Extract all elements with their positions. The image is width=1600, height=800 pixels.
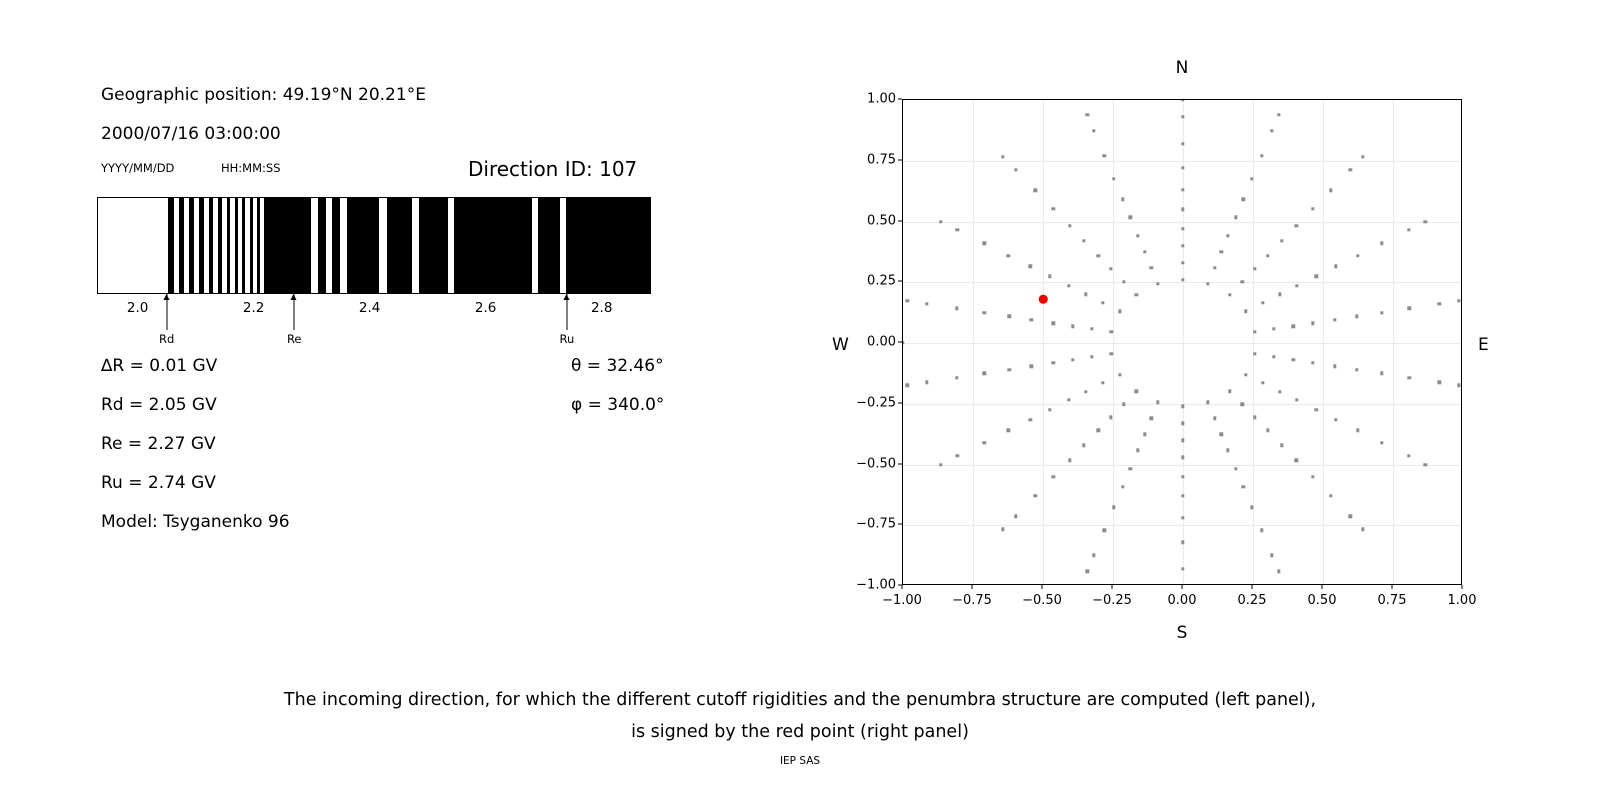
datetime-label: 2000/07/16 03:00:00 xyxy=(101,124,281,144)
direction-point xyxy=(1150,266,1153,269)
gridline-horizontal xyxy=(903,465,1461,466)
gridline-vertical xyxy=(1043,100,1044,584)
direction-point xyxy=(982,441,985,444)
scatter-y-tick-mark xyxy=(898,463,902,464)
direction-point xyxy=(1008,368,1011,371)
direction-point xyxy=(1329,494,1332,497)
direction-point xyxy=(1280,239,1283,242)
direction-point xyxy=(1014,168,1017,171)
scatter-y-tick-label: 0.00 xyxy=(867,335,896,350)
gridline-vertical xyxy=(1393,100,1394,584)
penumbra-forbidden-bar xyxy=(538,198,560,293)
direction-grid-panel: N S W E −1.00−0.75−0.50−0.250.000.250.50… xyxy=(800,0,1600,660)
penumbra-marker-ru xyxy=(566,294,567,330)
direction-point xyxy=(1110,352,1113,355)
scatter-x-tick-label: −0.25 xyxy=(1092,593,1132,608)
penumbra-marker-label-rd: Rd xyxy=(159,332,174,346)
penumbra-forbidden-bar xyxy=(419,198,447,293)
direction-point xyxy=(1295,224,1298,227)
direction-point xyxy=(1361,155,1364,158)
penumbra-marker-rd xyxy=(166,294,167,330)
direction-point xyxy=(982,242,985,245)
scatter-x-tick-mark xyxy=(1462,585,1463,589)
scatter-x-tick-label: −0.75 xyxy=(952,593,992,608)
gridline-horizontal xyxy=(903,222,1461,223)
gridline-horizontal xyxy=(903,161,1461,162)
direction-point xyxy=(1228,293,1231,296)
direction-point xyxy=(1260,154,1263,157)
direction-point xyxy=(1181,261,1184,264)
direction-point xyxy=(1135,293,1138,296)
direction-point xyxy=(1034,189,1037,192)
penumbra-marker-label-ru: Ru xyxy=(559,332,574,346)
direction-point xyxy=(1270,554,1273,557)
penumbra-forbidden-bar xyxy=(199,198,204,293)
direction-point xyxy=(1181,227,1184,230)
direction-point xyxy=(1260,529,1263,532)
figure-caption: The incoming direction, for which the di… xyxy=(0,684,1600,748)
penumbra-marker-re xyxy=(294,294,295,330)
direction-point xyxy=(1181,208,1184,211)
direction-point xyxy=(1266,254,1269,257)
direction-point xyxy=(1103,529,1106,532)
penumbra-tick-label: 2.4 xyxy=(359,300,380,316)
direction-point xyxy=(1092,129,1095,132)
direction-point xyxy=(1181,404,1184,407)
direction-point xyxy=(1135,390,1138,393)
direction-point xyxy=(1277,570,1280,573)
scatter-y-tick-label: 0.25 xyxy=(867,274,896,289)
direction-point xyxy=(925,381,928,384)
scatter-x-tick-mark xyxy=(902,585,903,589)
direction-point xyxy=(939,463,942,466)
scatter-x-tick-label: 0.00 xyxy=(1168,593,1197,608)
scatter-y-tick-label: 0.75 xyxy=(867,152,896,167)
direction-point xyxy=(1136,449,1139,452)
scatter-y-tick-mark xyxy=(898,342,902,343)
penumbra-tick-label: 2.6 xyxy=(475,300,496,316)
direction-point xyxy=(1206,401,1209,404)
direction-point xyxy=(1361,527,1364,530)
scatter-y-tick-label: 0.50 xyxy=(867,213,896,228)
direction-point xyxy=(1292,324,1295,327)
direction-point xyxy=(956,228,959,231)
penumbra-forbidden-bar xyxy=(227,198,230,293)
direction-point xyxy=(1034,494,1037,497)
time-format-hint: HH:MM:SS xyxy=(221,161,281,175)
scatter-y-tick-mark xyxy=(898,281,902,282)
penumbra-forbidden-bar xyxy=(566,198,651,293)
direction-point xyxy=(1457,299,1460,302)
direction-point xyxy=(1082,239,1085,242)
direction-point xyxy=(1226,234,1229,237)
direction-point xyxy=(1112,177,1115,180)
direction-point xyxy=(1242,485,1245,488)
scatter-x-tick-label: 0.50 xyxy=(1308,593,1337,608)
caption-line-1: The incoming direction, for which the di… xyxy=(0,684,1600,716)
scatter-x-tick-mark xyxy=(1112,585,1113,589)
penumbra-panel: Geographic position: 49.19°N 20.21°E 200… xyxy=(0,0,760,660)
penumbra-tick-label: 2.2 xyxy=(243,300,264,316)
direction-point xyxy=(1380,372,1383,375)
direction-point xyxy=(1181,494,1184,497)
direction-point xyxy=(1118,373,1121,376)
penumbra-forbidden-bar xyxy=(242,198,245,293)
direction-point xyxy=(1244,310,1247,313)
param-re: Re = 2.27 GV xyxy=(101,434,216,454)
direction-point xyxy=(1272,355,1275,358)
direction-point xyxy=(1424,220,1427,223)
scatter-x-tick-label: 0.75 xyxy=(1378,593,1407,608)
direction-point xyxy=(1311,361,1314,364)
scatter-plot-area[interactable] xyxy=(902,99,1462,585)
direction-point xyxy=(906,299,909,302)
scatter-y-tick-mark xyxy=(898,159,902,160)
param-rd: Rd = 2.05 GV xyxy=(101,395,217,415)
direction-point xyxy=(1181,541,1184,544)
direction-point xyxy=(1329,189,1332,192)
direction-point xyxy=(1206,282,1209,285)
direction-point xyxy=(1156,282,1159,285)
direction-point xyxy=(1084,390,1087,393)
direction-point xyxy=(1109,267,1112,270)
direction-point xyxy=(1356,254,1359,257)
penumbra-forbidden-bar xyxy=(179,198,184,293)
direction-point xyxy=(1181,438,1184,441)
direction-point xyxy=(1052,207,1055,210)
direction-point xyxy=(1086,570,1089,573)
compass-south-label: S xyxy=(1177,623,1188,643)
direction-point xyxy=(956,454,959,457)
direction-point xyxy=(1333,318,1336,321)
direction-point xyxy=(1311,321,1314,324)
direction-point xyxy=(1213,266,1216,269)
direction-point xyxy=(1355,315,1358,318)
penumbra-forbidden-bar xyxy=(347,198,379,293)
direction-point xyxy=(1280,444,1283,447)
direction-point xyxy=(1349,168,1352,171)
compass-east-label: E xyxy=(1478,335,1489,355)
direction-point xyxy=(1407,454,1410,457)
direction-point xyxy=(983,372,986,375)
direction-point xyxy=(1122,403,1125,406)
direction-point xyxy=(1253,416,1256,419)
direction-point xyxy=(1086,113,1089,116)
penumbra-chart xyxy=(97,197,651,294)
penumbra-forbidden-bar xyxy=(189,198,194,293)
direction-point xyxy=(1253,330,1256,333)
direction-point xyxy=(1407,228,1410,231)
direction-point xyxy=(1097,254,1100,257)
direction-point xyxy=(1266,429,1269,432)
direction-point xyxy=(1048,408,1051,411)
direction-point xyxy=(1380,311,1383,314)
penumbra-band xyxy=(97,197,651,294)
direction-point xyxy=(1234,467,1237,470)
direction-point xyxy=(1143,250,1146,253)
direction-point xyxy=(1380,441,1383,444)
direction-point xyxy=(1181,456,1184,459)
direction-point xyxy=(1143,433,1146,436)
scatter-x-tick-label: 1.00 xyxy=(1448,593,1477,608)
param-delta-r: ∆R = 0.01 GV xyxy=(101,356,217,376)
direction-point xyxy=(1220,433,1223,436)
direction-point xyxy=(955,376,958,379)
direction-point xyxy=(1052,321,1055,324)
direction-point xyxy=(1438,302,1441,305)
scatter-x-tick-label: 0.25 xyxy=(1238,593,1267,608)
scatter-y-tick-label: −0.75 xyxy=(856,517,896,532)
direction-point xyxy=(1067,284,1070,287)
direction-point xyxy=(1007,429,1010,432)
direction-point xyxy=(1181,142,1184,145)
scatter-y-tick-label: −0.50 xyxy=(856,456,896,471)
penumbra-marker-label-re: Re xyxy=(287,332,302,346)
direction-point xyxy=(1048,274,1051,277)
param-model: Model: Tsyganenko 96 xyxy=(101,512,290,532)
param-theta: θ = 32.46° xyxy=(571,356,664,376)
geographic-position-label: Geographic position: 49.19°N 20.21°E xyxy=(101,85,426,105)
penumbra-forbidden-bar xyxy=(332,198,341,293)
scatter-y-tick-label: −0.25 xyxy=(856,395,896,410)
direction-point xyxy=(1181,244,1184,247)
scatter-x-tick-mark xyxy=(1392,585,1393,589)
direction-point xyxy=(1261,381,1264,384)
gridline-vertical xyxy=(973,100,974,584)
direction-point xyxy=(1181,475,1184,478)
scatter-y-tick-mark xyxy=(898,220,902,221)
direction-point xyxy=(1007,254,1010,257)
direction-point xyxy=(1295,284,1298,287)
direction-point xyxy=(925,302,928,305)
direction-point xyxy=(1112,506,1115,509)
direction-point xyxy=(1181,166,1184,169)
direction-point xyxy=(1295,398,1298,401)
direction-point xyxy=(939,220,942,223)
direction-point xyxy=(1181,188,1184,191)
caption-line-2: is signed by the red point (right panel) xyxy=(0,716,1600,748)
direction-point xyxy=(1129,467,1132,470)
direction-point xyxy=(1071,324,1074,327)
direction-point xyxy=(1121,197,1124,200)
penumbra-forbidden-bar xyxy=(264,198,312,293)
direction-point xyxy=(1241,280,1244,283)
direction-point xyxy=(1001,155,1004,158)
direction-point xyxy=(1110,330,1113,333)
direction-point xyxy=(1241,403,1244,406)
direction-point xyxy=(1029,265,1032,268)
direction-point xyxy=(1008,315,1011,318)
direction-point xyxy=(1334,265,1337,268)
direction-point xyxy=(1333,365,1336,368)
scatter-x-tick-label: −1.00 xyxy=(882,593,922,608)
penumbra-tick-label: 2.0 xyxy=(127,300,148,316)
direction-point xyxy=(1101,301,1104,304)
direction-point xyxy=(1407,376,1410,379)
gridline-vertical xyxy=(1113,100,1114,584)
direction-point xyxy=(1067,398,1070,401)
penumbra-axis: 2.02.22.42.62.8RdReRu xyxy=(97,294,651,350)
direction-point xyxy=(1315,274,1318,277)
direction-point xyxy=(1334,418,1337,421)
direction-point xyxy=(1136,234,1139,237)
direction-point xyxy=(1253,352,1256,355)
direction-point xyxy=(983,311,986,314)
selected-direction-point[interactable] xyxy=(1039,295,1048,304)
date-format-hint: YYYY/MM/DD xyxy=(101,161,174,175)
direction-point xyxy=(1349,514,1352,517)
direction-point xyxy=(1228,390,1231,393)
direction-point xyxy=(1014,514,1017,517)
scatter-y-tick-mark xyxy=(898,524,902,525)
direction-point xyxy=(1407,307,1410,310)
direction-point xyxy=(1244,373,1247,376)
direction-point xyxy=(1181,516,1184,519)
direction-point xyxy=(1071,358,1074,361)
direction-point xyxy=(1311,207,1314,210)
direction-point xyxy=(1181,421,1184,424)
direction-point xyxy=(1315,408,1318,411)
direction-point xyxy=(1082,444,1085,447)
penumbra-forbidden-bar xyxy=(209,198,213,293)
direction-point xyxy=(1150,417,1153,420)
direction-point xyxy=(1457,383,1460,386)
penumbra-forbidden-bar xyxy=(250,198,253,293)
direction-point xyxy=(1052,361,1055,364)
direction-point xyxy=(1355,368,1358,371)
compass-west-label: W xyxy=(832,335,849,355)
direction-point xyxy=(1103,154,1106,157)
direction-point xyxy=(1250,506,1253,509)
direction-point xyxy=(1181,115,1184,118)
direction-point xyxy=(1270,129,1273,132)
scatter-x-tick-mark xyxy=(1252,585,1253,589)
direction-point xyxy=(1181,99,1184,102)
direction-point xyxy=(1118,310,1121,313)
direction-point xyxy=(1101,381,1104,384)
param-ru: Ru = 2.74 GV xyxy=(101,473,216,493)
direction-point xyxy=(1461,341,1462,344)
direction-point xyxy=(1030,318,1033,321)
direction-point xyxy=(1092,554,1095,557)
penumbra-forbidden-bar xyxy=(454,198,532,293)
direction-point xyxy=(1030,365,1033,368)
direction-point xyxy=(1068,224,1071,227)
direction-point xyxy=(1090,327,1093,330)
scatter-x-tick-mark xyxy=(1042,585,1043,589)
penumbra-tick-label: 2.8 xyxy=(591,300,612,316)
direction-point xyxy=(1181,567,1184,570)
penumbra-forbidden-bar xyxy=(257,198,260,293)
direction-point xyxy=(1226,449,1229,452)
direction-point xyxy=(1121,485,1124,488)
direction-point xyxy=(1129,216,1132,219)
direction-point xyxy=(1052,475,1055,478)
direction-point xyxy=(955,307,958,310)
direction-point xyxy=(1029,418,1032,421)
penumbra-forbidden-bar xyxy=(168,198,174,293)
direction-point xyxy=(1380,242,1383,245)
direction-point xyxy=(1084,293,1087,296)
direction-point xyxy=(1090,355,1093,358)
direction-point xyxy=(1356,429,1359,432)
direction-point xyxy=(1242,197,1245,200)
gridline-horizontal xyxy=(903,282,1461,283)
gridline-vertical xyxy=(1183,100,1184,584)
scatter-x-tick-mark xyxy=(1322,585,1323,589)
gridline-vertical xyxy=(1323,100,1324,584)
direction-point xyxy=(1156,401,1159,404)
direction-point xyxy=(1277,113,1280,116)
direction-point xyxy=(1311,475,1314,478)
penumbra-forbidden-bar xyxy=(218,198,221,293)
direction-point xyxy=(1272,327,1275,330)
direction-point xyxy=(1278,293,1281,296)
direction-point xyxy=(902,341,905,344)
scatter-y-tick-label: −1.00 xyxy=(856,578,896,593)
direction-point xyxy=(1220,250,1223,253)
gridline-horizontal xyxy=(903,343,1461,344)
footer-credit: IEP SAS xyxy=(0,755,1600,767)
direction-point xyxy=(1001,527,1004,530)
direction-point xyxy=(1213,417,1216,420)
direction-point xyxy=(1438,381,1441,384)
direction-point xyxy=(1261,301,1264,304)
scatter-x-tick-mark xyxy=(972,585,973,589)
param-phi: φ = 340.0° xyxy=(571,395,664,415)
direction-point xyxy=(1295,459,1298,462)
direction-point xyxy=(1122,280,1125,283)
penumbra-forbidden-bar xyxy=(387,198,413,293)
penumbra-forbidden-bar xyxy=(235,198,238,293)
compass-north-label: N xyxy=(1176,58,1189,78)
gridline-horizontal xyxy=(903,525,1461,526)
direction-point xyxy=(1253,267,1256,270)
scatter-y-tick-label: 1.00 xyxy=(867,92,896,107)
direction-point xyxy=(1068,459,1071,462)
direction-point xyxy=(1109,416,1112,419)
scatter-y-tick-mark xyxy=(898,402,902,403)
scatter-x-tick-label: −0.50 xyxy=(1022,593,1062,608)
scatter-y-tick-mark xyxy=(898,99,902,100)
direction-point xyxy=(1250,177,1253,180)
penumbra-forbidden-bar xyxy=(318,198,326,293)
direction-point xyxy=(906,383,909,386)
gridline-vertical xyxy=(1253,100,1254,584)
direction-point xyxy=(1292,358,1295,361)
direction-id-label: Direction ID: 107 xyxy=(468,157,637,181)
direction-point xyxy=(1278,390,1281,393)
scatter-x-tick-mark xyxy=(1182,585,1183,589)
direction-point xyxy=(1097,429,1100,432)
direction-point xyxy=(1181,278,1184,281)
direction-point xyxy=(1234,216,1237,219)
direction-point xyxy=(1424,463,1427,466)
